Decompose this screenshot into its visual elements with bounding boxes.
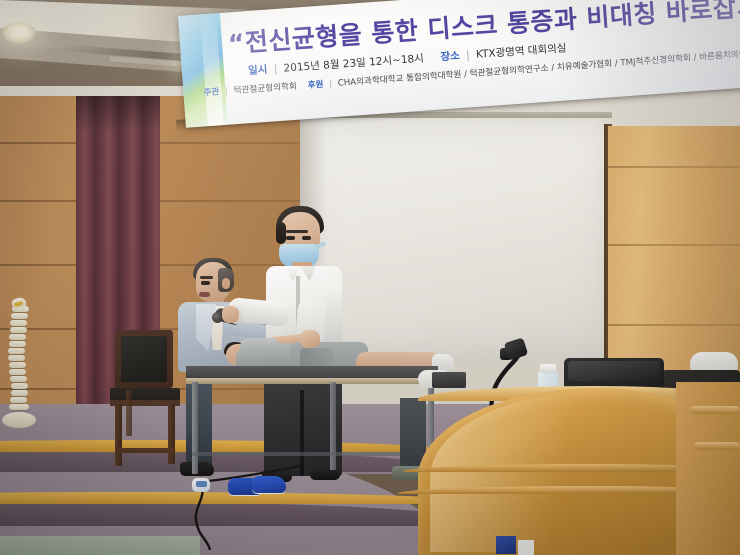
podium-side-trim-1 (690, 406, 740, 414)
presenter-mouth (199, 292, 210, 297)
desk-cables (432, 372, 466, 388)
assistant-hand-right (222, 306, 239, 323)
podium-side-trim-2 (694, 442, 740, 450)
curtain-shadow (76, 96, 160, 132)
presenter-brow (200, 276, 213, 279)
podium-logo-icon (496, 536, 516, 554)
wooden-chair-backrest-pad (121, 336, 167, 382)
power-adapter-label (196, 481, 207, 487)
assistant-brow (286, 230, 308, 233)
water-bottle-cap (540, 364, 556, 373)
wooden-chair-leg-back (126, 390, 132, 436)
presenter-eye (201, 281, 210, 285)
assistant-eye-right (302, 236, 311, 240)
projection-screen (300, 118, 612, 358)
assistant-hair-side (276, 222, 286, 244)
treatment-table-edge (186, 378, 438, 384)
assistant-eye-left (286, 236, 295, 240)
assistant-hand-left (300, 330, 320, 348)
laptop-screen-sheen (568, 361, 660, 381)
presenter-ear (222, 278, 230, 289)
conference-hall-photo: “전신균형을 통한 디스크 통증과 비대칭 바로잡기” 일시 | 2015년 8… (0, 0, 740, 555)
blue-sneaker-right (252, 476, 286, 493)
spine-model-icon (8, 306, 30, 418)
downlight-1-icon (2, 22, 36, 44)
podium-logo-mark (518, 540, 534, 555)
wooden-chair-leg-left (115, 404, 122, 466)
